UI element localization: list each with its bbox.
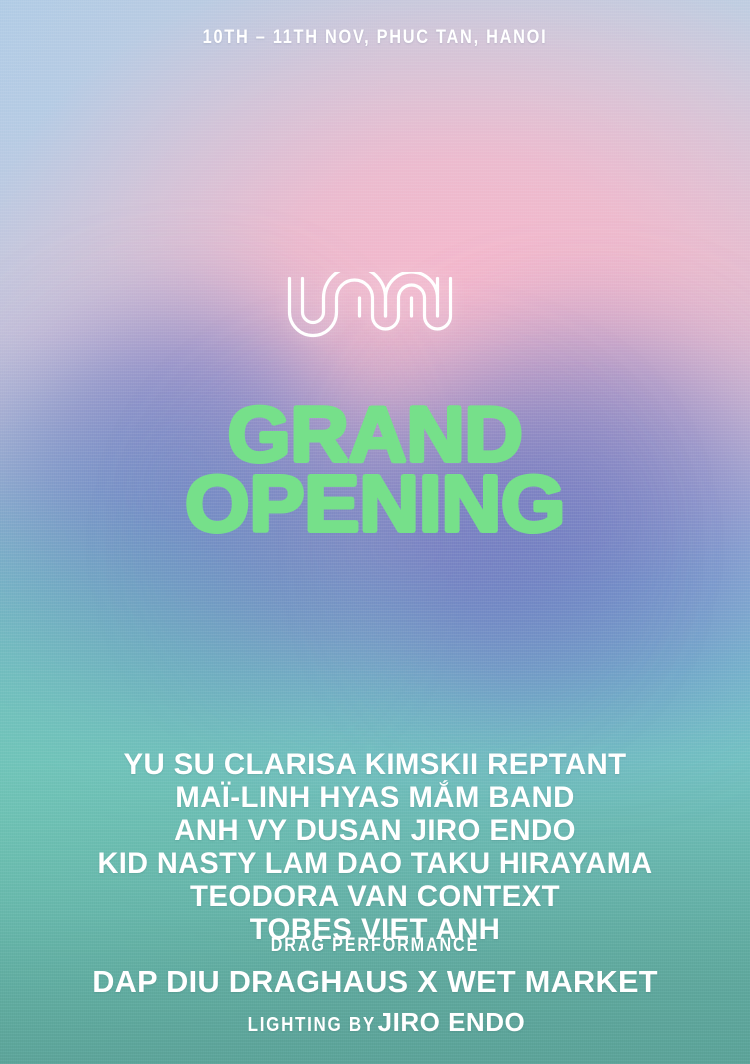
lineup-line-3: ANH VY DUSAN JIRO ENDO bbox=[8, 814, 743, 847]
lineup-line-1: YU SU CLARISA KIMSKII REPTANT bbox=[8, 748, 743, 781]
drag-performance-acts: DAP DIU DRAGHAUS X WET MARKET bbox=[4, 964, 747, 1000]
drag-performance-label: DRAG PERFORMANCE bbox=[56, 935, 694, 957]
artist-lineup: YU SU CLARISA KIMSKII REPTANT MAÏ-LINH H… bbox=[0, 748, 750, 946]
lineup-line-4: KID NASTY LAM DAO TAKU HIRAYAMA bbox=[8, 847, 743, 880]
headline-line-2: OPENING bbox=[0, 469, 750, 539]
lineup-line-5: TEODORA VAN CONTEXT bbox=[8, 880, 743, 913]
page-title: GRAND OPENING bbox=[0, 400, 750, 539]
lineup-line-2: MAÏ-LINH HYAS MẮM BAND bbox=[8, 781, 743, 814]
poster-content: 10TH – 11TH NOV, PHUC TAN, HANOI GRAND O… bbox=[0, 0, 750, 1064]
event-date-location: 10TH – 11TH NOV, PHUC TAN, HANOI bbox=[53, 27, 698, 49]
lighting-credit-section: LIGHTING BYJIRO ENDO bbox=[0, 1007, 750, 1038]
unm-wordmark-icon bbox=[283, 272, 467, 338]
lighting-credit-label: LIGHTING BY bbox=[247, 1014, 375, 1037]
drag-performance-section: DRAG PERFORMANCE DAP DIU DRAGHAUS X WET … bbox=[0, 935, 750, 1000]
poster-canvas: 10TH – 11TH NOV, PHUC TAN, HANOI GRAND O… bbox=[0, 0, 750, 1064]
logo-container bbox=[0, 272, 750, 338]
lighting-credit-name: JIRO ENDO bbox=[378, 1007, 526, 1038]
